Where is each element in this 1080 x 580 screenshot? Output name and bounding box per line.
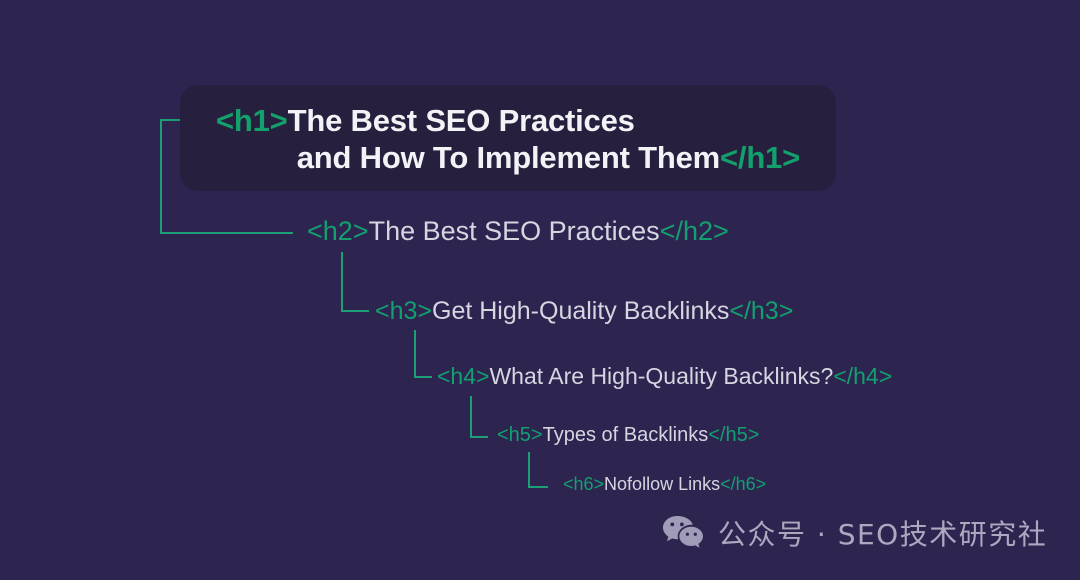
h2-text: The Best SEO Practices: [369, 216, 660, 246]
connector-segment-horizontal: [528, 486, 548, 488]
connector-segment-vertical: [470, 396, 472, 438]
watermark: 公众号 · SEO技术研究社: [662, 513, 1047, 553]
connector-segment-horizontal: [470, 436, 488, 438]
h6-close-tag: </h6>: [720, 474, 766, 494]
slide-canvas: <h1>The Best SEO Practices and How To Im…: [0, 0, 1080, 580]
h1-text-line-2: and How To Implement Them: [297, 140, 720, 175]
h2-open-tag: <h2>: [307, 216, 369, 246]
h1-card: <h1>The Best SEO Practices and How To Im…: [180, 85, 836, 191]
connector-segment-horizontal: [160, 119, 182, 121]
h4-open-tag: <h4>: [437, 363, 489, 389]
h5-open-tag: <h5>: [497, 424, 543, 446]
h2-close-tag: </h2>: [660, 216, 729, 246]
h3-text: Get High-Quality Backlinks: [432, 297, 729, 325]
heading-row-h3: <h3>Get High-Quality Backlinks</h3>: [375, 299, 793, 324]
h1-line-2: and How To Implement Them</h1>: [216, 142, 800, 173]
connector-segment-vertical: [160, 119, 162, 234]
h1-open-tag: <h1>: [216, 103, 288, 138]
h1-line-1: <h1>The Best SEO Practices: [216, 105, 635, 136]
h3-open-tag: <h3>: [375, 297, 432, 325]
h4-text: What Are High-Quality Backlinks?: [489, 363, 833, 389]
heading-row-h5: <h5>Types of Backlinks</h5>: [497, 425, 759, 445]
h4-close-tag: </h4>: [833, 363, 892, 389]
h5-close-tag: </h5>: [708, 424, 759, 446]
heading-row-h4: <h4>What Are High-Quality Backlinks?</h4…: [437, 365, 892, 388]
h5-text: Types of Backlinks: [543, 424, 709, 446]
heading-row-h6: <h6>Nofollow Links</h6>: [563, 475, 766, 493]
connector-segment-vertical: [341, 252, 343, 312]
h1-text-line-1: The Best SEO Practices: [288, 103, 635, 138]
h6-open-tag: <h6>: [563, 474, 604, 494]
heading-row-h2: <h2>The Best SEO Practices</h2>: [307, 218, 729, 245]
connector-segment-horizontal: [160, 232, 293, 234]
connector-segment-vertical: [414, 330, 416, 378]
wechat-icon: [662, 515, 704, 551]
watermark-text: 公众号 · SEO技术研究社: [718, 513, 1047, 553]
h1-close-tag: </h1>: [720, 140, 800, 175]
connector-segment-horizontal: [341, 310, 369, 312]
h6-text: Nofollow Links: [604, 474, 720, 494]
connector-segment-horizontal: [414, 376, 432, 378]
connector-segment-vertical: [528, 452, 530, 488]
h3-close-tag: </h3>: [729, 297, 793, 325]
